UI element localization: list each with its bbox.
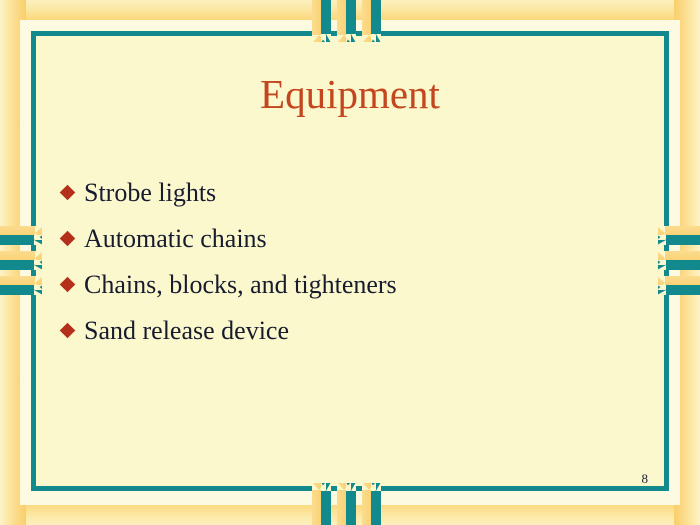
list-item: Sand release device: [62, 316, 622, 350]
ribbon-notch-icon: [371, 482, 381, 491]
ribbon-left-2: [0, 251, 42, 265]
ribbon-top-1: [312, 0, 326, 42]
ribbon-notch-icon: [321, 34, 331, 43]
ribbon-notch-icon: [657, 235, 666, 245]
bullet-list: Strobe lights Automatic chains Chains, b…: [62, 178, 622, 362]
ribbon-left-3: [0, 276, 42, 290]
ribbon-right-1: [658, 226, 700, 240]
ribbon-right-2: [658, 251, 700, 265]
ribbon-notch-icon: [34, 285, 43, 295]
diamond-bullet-icon: [60, 231, 76, 247]
ribbon-notch-icon: [34, 235, 43, 245]
list-item: Automatic chains: [62, 224, 622, 258]
ribbon-bottom-2: [337, 483, 351, 525]
diamond-bullet-icon: [60, 323, 76, 339]
list-item: Strobe lights: [62, 178, 622, 212]
diamond-bullet-icon: [60, 185, 76, 201]
ribbon-bottom-3: [362, 483, 376, 525]
list-item-label: Automatic chains: [84, 224, 267, 254]
slide: Equipment Strobe lights Automatic chains…: [0, 0, 700, 525]
diamond-bullet-icon: [60, 277, 76, 293]
list-item-label: Strobe lights: [84, 178, 216, 208]
ribbon-right-3: [658, 276, 700, 290]
list-item-label: Sand release device: [84, 316, 289, 346]
ribbon-notch-icon: [371, 34, 381, 43]
ribbon-left-1: [0, 226, 42, 240]
ribbon-notch-icon: [346, 34, 356, 43]
list-item: Chains, blocks, and tighteners: [62, 270, 622, 304]
ribbon-notch-icon: [34, 260, 43, 270]
ribbon-top-2: [337, 0, 351, 42]
ribbon-top-3: [362, 0, 376, 42]
ribbon-notch-icon: [657, 260, 666, 270]
ribbon-notch-icon: [321, 482, 331, 491]
ribbon-bottom-1: [312, 483, 326, 525]
ribbon-notch-icon: [346, 482, 356, 491]
list-item-label: Chains, blocks, and tighteners: [84, 270, 397, 300]
slide-title: Equipment: [36, 72, 664, 117]
ribbon-notch-icon: [657, 285, 666, 295]
page-number: 8: [642, 471, 649, 487]
